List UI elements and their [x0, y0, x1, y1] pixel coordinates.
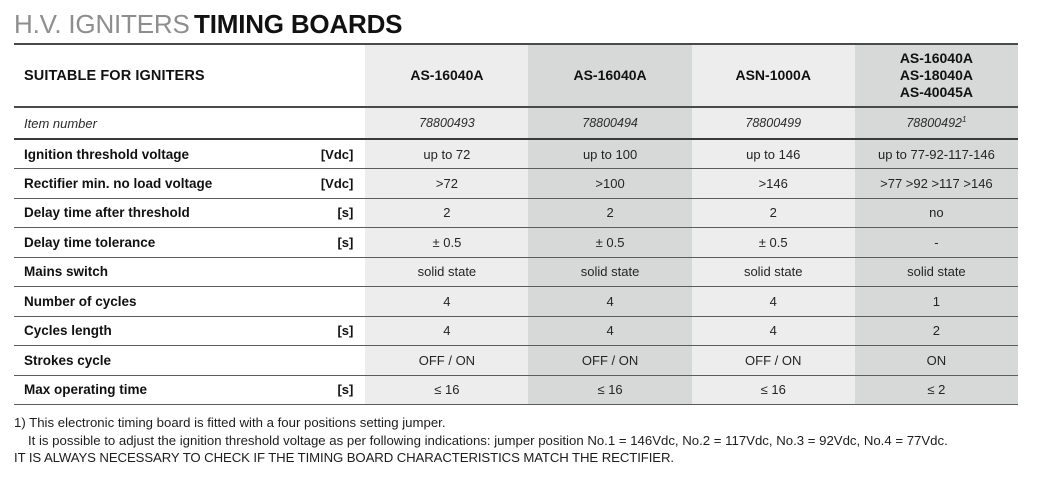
- cell-delay-time-tolerance-col3: ± 0.5: [692, 228, 855, 258]
- cell-item-number-col3: 78800499: [692, 107, 855, 139]
- page-title: H.V. IGNITERS TIMING BOARDS: [14, 0, 1030, 43]
- cell-item-number-col4-value: 78800492: [906, 117, 962, 131]
- cell-cycles-length-col1: 4: [365, 316, 528, 346]
- row-label-delay-time-after-threshold: Delay time after threshold: [14, 198, 304, 228]
- cell-delay-time-tolerance-col1: ± 0.5: [365, 228, 528, 258]
- cell-ignition-threshold-voltage-col1: up to 72: [365, 139, 528, 169]
- table-row: Max operating time [s] ≤ 16 ≤ 16 ≤ 16 ≤ …: [14, 375, 1018, 405]
- cell-rectifier-min-no-load-voltage-col4: >77 >92 >117 >146: [855, 169, 1018, 199]
- cell-item-number-col1: 78800493: [365, 107, 528, 139]
- cell-ignition-threshold-voltage-col4: up to 77-92-117-146: [855, 139, 1018, 169]
- table-row-item-number: Item number 78800493 78800494 78800499 7…: [14, 107, 1018, 139]
- column-header-suitable-for-igniters: SUITABLE FOR IGNITERS: [14, 45, 365, 107]
- cell-number-of-cycles-col1: 4: [365, 287, 528, 317]
- column-header-col4-line3: AS-40045A: [855, 84, 1018, 101]
- footnote-line-2: It is possible to adjust the ignition th…: [14, 432, 1030, 450]
- column-header-col4-line2: AS-18040A: [855, 67, 1018, 84]
- cell-max-operating-time-col4: ≤ 2: [855, 375, 1018, 405]
- column-header-col4-line1: AS-16040A: [855, 50, 1018, 67]
- cell-number-of-cycles-col4: 1: [855, 287, 1018, 317]
- footnote-marker: 1: [962, 115, 966, 124]
- row-unit-max-operating-time: [s]: [304, 375, 365, 405]
- cell-cycles-length-col4: 2: [855, 316, 1018, 346]
- column-header-col4: AS-16040A AS-18040A AS-40045A: [855, 45, 1018, 107]
- row-unit-strokes-cycle: [304, 346, 365, 376]
- table-row: Delay time after threshold [s] 2 2 2 no: [14, 198, 1018, 228]
- row-unit-ignition-threshold-voltage: [Vdc]: [304, 139, 365, 169]
- column-header-col2-line1: AS-16040A: [528, 67, 691, 84]
- cell-number-of-cycles-col3: 4: [692, 287, 855, 317]
- spec-sheet-page: H.V. IGNITERS TIMING BOARDS SUITABLE FOR…: [0, 0, 1044, 493]
- row-label-number-of-cycles: Number of cycles: [14, 287, 304, 317]
- cell-ignition-threshold-voltage-col2: up to 100: [528, 139, 691, 169]
- row-label-rectifier-min-no-load-voltage: Rectifier min. no load voltage: [14, 169, 304, 199]
- row-unit-cycles-length: [s]: [304, 316, 365, 346]
- table-row: Cycles length [s] 4 4 4 2: [14, 316, 1018, 346]
- table-row: Ignition threshold voltage [Vdc] up to 7…: [14, 139, 1018, 169]
- cell-item-number-col2: 78800494: [528, 107, 691, 139]
- page-title-prefix: H.V. IGNITERS: [14, 9, 190, 39]
- row-unit-delay-time-tolerance: [s]: [304, 228, 365, 258]
- cell-strokes-cycle-col3: OFF / ON: [692, 346, 855, 376]
- row-label-cycles-length: Cycles length: [14, 316, 304, 346]
- table-row: Number of cycles 4 4 4 1: [14, 287, 1018, 317]
- row-unit-rectifier-min-no-load-voltage: [Vdc]: [304, 169, 365, 199]
- row-label-strokes-cycle: Strokes cycle: [14, 346, 304, 376]
- cell-max-operating-time-col1: ≤ 16: [365, 375, 528, 405]
- cell-delay-time-after-threshold-col1: 2: [365, 198, 528, 228]
- table-header-row: SUITABLE FOR IGNITERS AS-16040A AS-16040…: [14, 45, 1018, 107]
- footnote-line-1: 1) This electronic timing board is fitte…: [14, 414, 1030, 432]
- column-header-col1-line1: AS-16040A: [365, 67, 528, 84]
- cell-rectifier-min-no-load-voltage-col2: >100: [528, 169, 691, 199]
- cell-strokes-cycle-col1: OFF / ON: [365, 346, 528, 376]
- cell-strokes-cycle-col2: OFF / ON: [528, 346, 691, 376]
- row-unit-number-of-cycles: [304, 287, 365, 317]
- column-header-col2: AS-16040A: [528, 45, 691, 107]
- table-row: Delay time tolerance [s] ± 0.5 ± 0.5 ± 0…: [14, 228, 1018, 258]
- cell-delay-time-tolerance-col2: ± 0.5: [528, 228, 691, 258]
- row-label-max-operating-time: Max operating time: [14, 375, 304, 405]
- column-header-col3: ASN-1000A: [692, 45, 855, 107]
- row-unit-delay-time-after-threshold: [s]: [304, 198, 365, 228]
- footnote-line-3: IT IS ALWAYS NECESSARY TO CHECK IF THE T…: [14, 449, 1030, 467]
- row-label-item-number: Item number: [14, 107, 365, 139]
- cell-delay-time-after-threshold-col2: 2: [528, 198, 691, 228]
- cell-rectifier-min-no-load-voltage-col3: >146: [692, 169, 855, 199]
- column-header-col3-line1: ASN-1000A: [692, 67, 855, 84]
- cell-mains-switch-col3: solid state: [692, 257, 855, 287]
- cell-strokes-cycle-col4: ON: [855, 346, 1018, 376]
- cell-delay-time-after-threshold-col3: 2: [692, 198, 855, 228]
- cell-delay-time-tolerance-col4: -: [855, 228, 1018, 258]
- cell-item-number-col4: 788004921: [855, 107, 1018, 139]
- cell-mains-switch-col2: solid state: [528, 257, 691, 287]
- cell-mains-switch-col1: solid state: [365, 257, 528, 287]
- cell-delay-time-after-threshold-col4: no: [855, 198, 1018, 228]
- specifications-table: SUITABLE FOR IGNITERS AS-16040A AS-16040…: [14, 43, 1018, 405]
- table-row: Rectifier min. no load voltage [Vdc] >72…: [14, 169, 1018, 199]
- cell-cycles-length-col2: 4: [528, 316, 691, 346]
- column-header-col1: AS-16040A: [365, 45, 528, 107]
- cell-number-of-cycles-col2: 4: [528, 287, 691, 317]
- page-title-suffix: TIMING BOARDS: [194, 9, 402, 39]
- cell-max-operating-time-col3: ≤ 16: [692, 375, 855, 405]
- table-row: Mains switch solid state solid state sol…: [14, 257, 1018, 287]
- row-label-mains-switch: Mains switch: [14, 257, 304, 287]
- cell-mains-switch-col4: solid state: [855, 257, 1018, 287]
- row-label-delay-time-tolerance: Delay time tolerance: [14, 228, 304, 258]
- cell-cycles-length-col3: 4: [692, 316, 855, 346]
- cell-rectifier-min-no-load-voltage-col1: >72: [365, 169, 528, 199]
- row-label-ignition-threshold-voltage: Ignition threshold voltage: [14, 139, 304, 169]
- cell-ignition-threshold-voltage-col3: up to 146: [692, 139, 855, 169]
- footnotes: 1) This electronic timing board is fitte…: [14, 405, 1030, 467]
- row-unit-mains-switch: [304, 257, 365, 287]
- table-row: Strokes cycle OFF / ON OFF / ON OFF / ON…: [14, 346, 1018, 376]
- cell-max-operating-time-col2: ≤ 16: [528, 375, 691, 405]
